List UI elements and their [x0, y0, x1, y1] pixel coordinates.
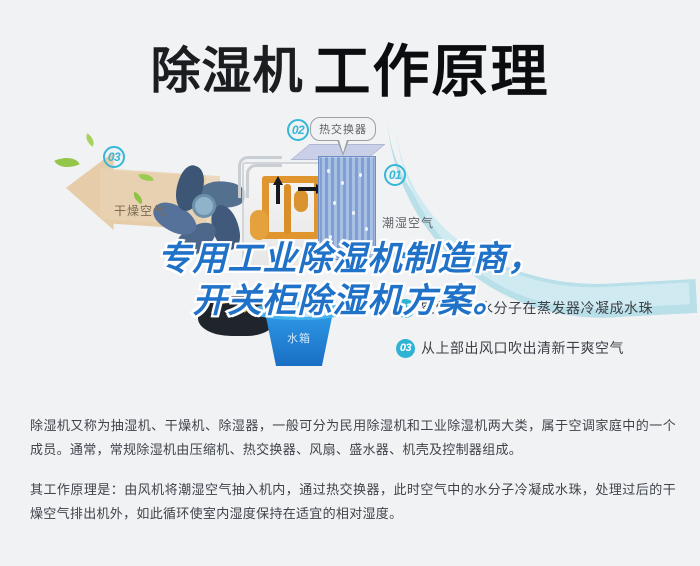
water-tank-inner: [266, 306, 332, 317]
label-humid-air: 潮湿空气: [382, 214, 434, 231]
copper-coil: [262, 232, 320, 239]
receiver-tank: [250, 210, 268, 240]
heat-exchanger-fins: [318, 156, 376, 260]
step-note-03: 03 从上部出风口吹出清新干爽空气: [396, 338, 624, 358]
fan-hub: [192, 194, 216, 218]
water-tank-label: 水箱: [252, 330, 346, 346]
infographic-page: 除湿机工作原理: [0, 0, 700, 566]
badge-heat-exchanger: 02: [287, 119, 309, 141]
step-text-02: 空气中的水分子在蒸发器冷凝成水珠: [421, 298, 653, 318]
step-badge-02: 02: [396, 299, 415, 318]
leaf-icon: [83, 133, 97, 146]
humid-air-inlet-arrow: [378, 248, 428, 262]
compressor-coil: [214, 300, 248, 316]
body-paragraph-1: 除湿机又称为抽湿机、干燥机、除湿器，一般可分为民用除湿机和工业除湿机两大类，属于…: [30, 414, 676, 462]
badge-dry-air: 03: [103, 146, 125, 168]
copper-coil: [284, 184, 291, 234]
leaf-icon: [54, 152, 79, 172]
condensation-droplets: [319, 157, 375, 259]
page-title-part2: 工作原理: [314, 40, 550, 104]
step-badge-03: 03: [396, 339, 415, 358]
body-paragraph-2: 其工作原理是：由风机将潮湿空气抽入机内，通过热交换器，此时空气中的水分子冷凝成水…: [30, 478, 676, 526]
page-title-part1: 除湿机: [151, 43, 304, 99]
receiver-tank: [294, 190, 308, 212]
copper-coil: [262, 176, 320, 183]
step-text-03: 从上部出风口吹出清新干爽空气: [421, 338, 624, 358]
badge-humid-air: 01: [384, 164, 406, 186]
humid-air-swoosh-inner: [395, 110, 690, 319]
body-copy: 除湿机又称为抽湿机、干燥机、除湿器，一般可分为民用除湿机和工业除湿机两大类，属于…: [30, 414, 676, 526]
page-title: 除湿机工作原理: [0, 26, 700, 108]
step-note-02: 02 空气中的水分子在蒸发器冷凝成水珠: [396, 298, 653, 318]
callout-heat-exchanger: 热交换器: [310, 117, 376, 141]
label-dry-air: 干燥空气: [114, 202, 166, 219]
water-tank: 水箱: [252, 300, 346, 366]
